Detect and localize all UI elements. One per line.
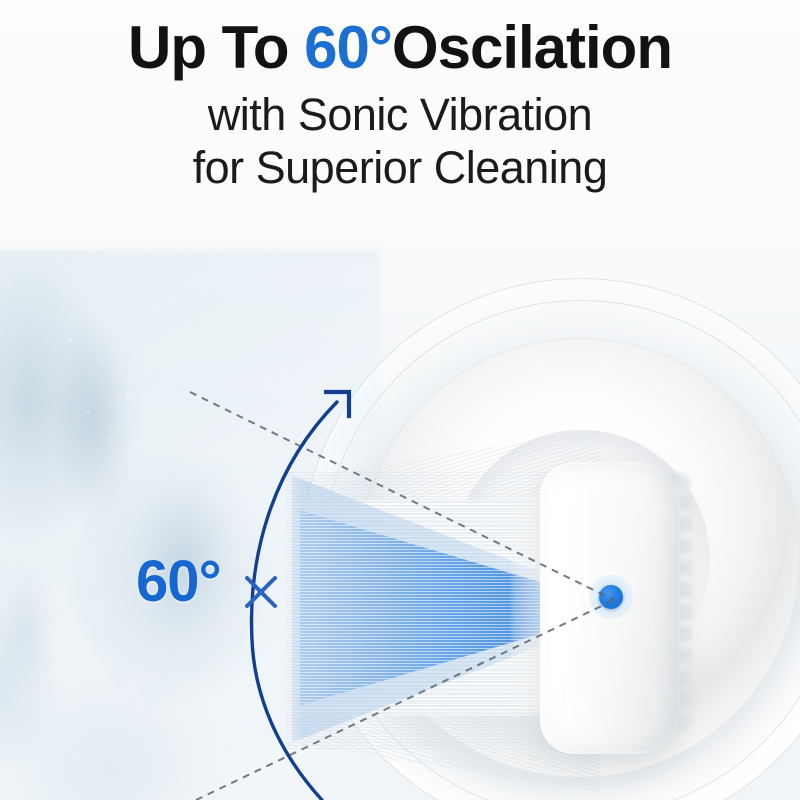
title-prefix: Up To — [128, 14, 304, 81]
product-feature-banner: 60° Up To 60°Oscilation with Sonic Vibra… — [0, 0, 800, 800]
subtitle-line-2: for Superior Cleaning — [0, 141, 800, 194]
title-suffix: Oscilation — [392, 14, 672, 81]
oscillation-arc — [252, 402, 337, 800]
page-title: Up To 60°Oscilation — [0, 0, 800, 78]
dashed-line-upper — [190, 392, 614, 600]
subtitle-line-1: with Sonic Vibration — [0, 88, 800, 141]
headline-block: Up To 60°Oscilation with Sonic Vibration… — [0, 0, 800, 194]
subtitle-block: with Sonic Vibration for Superior Cleani… — [0, 88, 800, 194]
title-accent-value: 60° — [304, 14, 392, 81]
dashed-line-lower — [196, 600, 614, 800]
angle-value-label: 60° — [136, 548, 221, 615]
